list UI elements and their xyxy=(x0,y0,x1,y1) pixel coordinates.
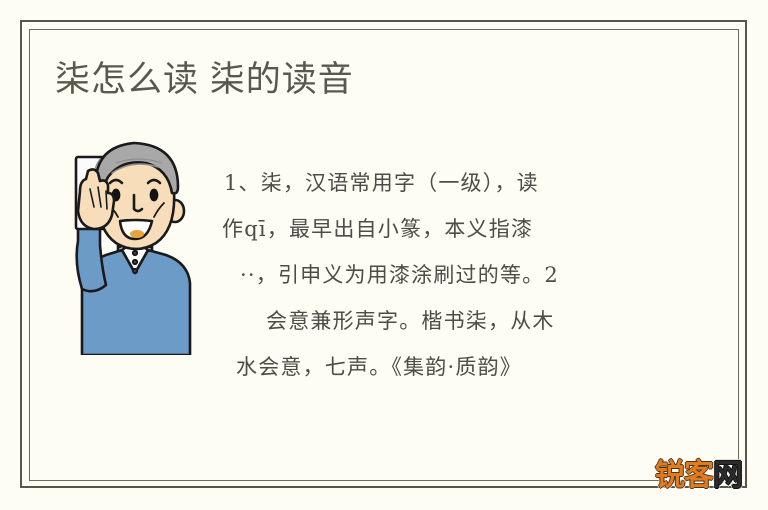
body-line-4: 会意兼形声字。楷书柒，从木 xyxy=(222,298,684,344)
elderly-man-illustration xyxy=(60,133,210,355)
article-body: 1、柒，汉语常用字（一级），读 作qī，最早出自小篆，本义指漆 ··，引申义为用… xyxy=(222,160,684,390)
body-line-3: ··，引申义为用漆涂刷过的等。2 xyxy=(222,252,684,298)
body-line-1: 1、柒，汉语常用字（一级），读 xyxy=(222,160,684,206)
watermark-text-secondary: 网 xyxy=(713,458,742,493)
body-line-5: 水会意，七声。《集韵·质韵》 xyxy=(222,344,684,390)
document-page: 柒怎么读 柒的读音 xyxy=(0,0,768,510)
elderly-man-figure xyxy=(60,133,210,355)
site-watermark: 锐客网 xyxy=(655,459,742,493)
watermark-text-primary: 锐客 xyxy=(655,458,713,493)
page-title: 柒怎么读 柒的读音 xyxy=(55,58,354,102)
body-line-2: 作qī，最早出自小篆，本义指漆 xyxy=(222,206,684,252)
